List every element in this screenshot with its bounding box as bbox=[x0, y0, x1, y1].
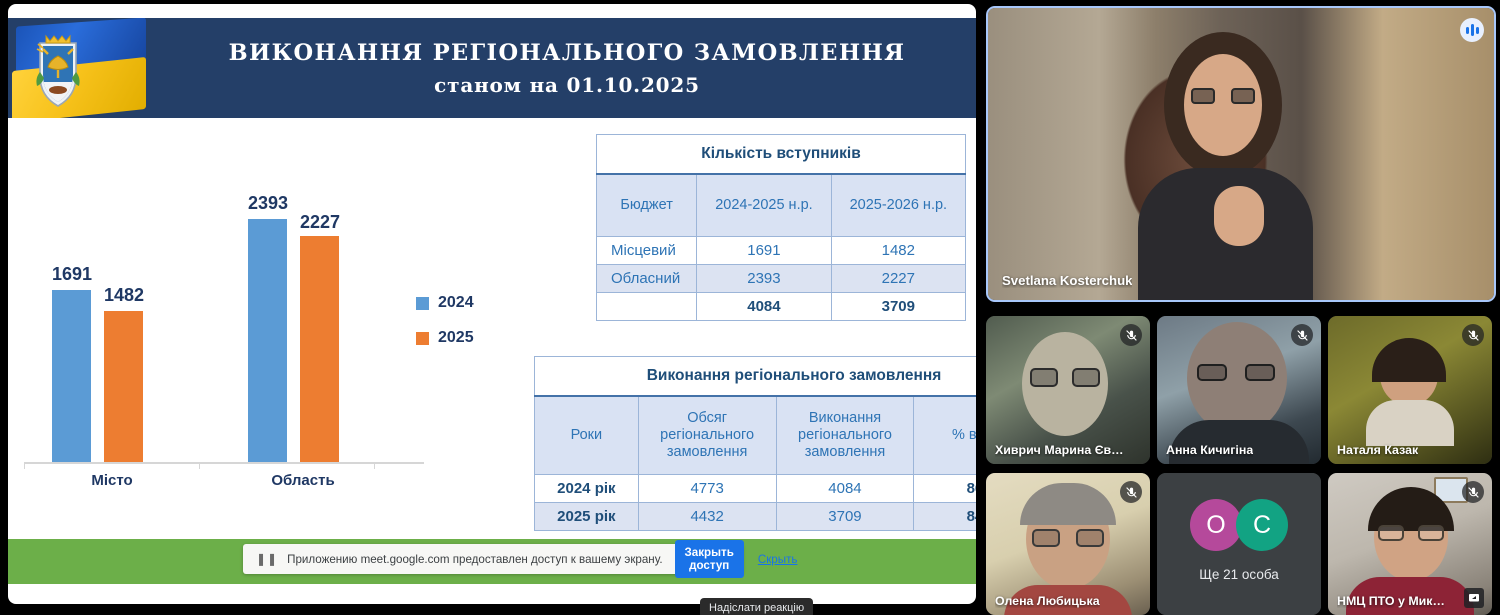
pause-icon[interactable]: ❚❚ bbox=[256, 552, 278, 566]
screen-share-notification: ❚❚ Приложению meet.google.com предоставл… bbox=[243, 544, 743, 574]
legend-item-2025: 2025 bbox=[416, 329, 474, 347]
cell-volume-2025: 4432 bbox=[638, 502, 776, 530]
glasses-left-icon bbox=[1197, 364, 1227, 381]
table-total-row: 4084 3709 bbox=[597, 292, 966, 320]
header-fulfilled: Виконання регіонального замовлення bbox=[776, 396, 914, 474]
slide-title-block: ВИКОНАННЯ РЕГІОНАЛЬНОГО ЗАМОВЛЕННЯ стано… bbox=[158, 18, 976, 118]
category-label-misto: Місто bbox=[67, 472, 157, 489]
table-caption-row: Виконання регіонального замовлення bbox=[535, 357, 977, 397]
cell-total-2024: 4084 bbox=[697, 292, 831, 320]
bar-label-2025-misto: 1482 bbox=[94, 285, 154, 306]
bar-2025-oblast bbox=[300, 236, 339, 462]
chart-legend: 2024 2025 bbox=[416, 294, 474, 364]
glasses-right-icon bbox=[1072, 368, 1100, 387]
hide-notification-link[interactable]: Скрыть bbox=[758, 553, 798, 566]
participant-name: Анна Кичигіна bbox=[1166, 443, 1253, 457]
header-percent: % викона bbox=[914, 396, 976, 474]
participant-name-text: Svetlana Kosterchuk bbox=[1002, 273, 1132, 288]
participant-tile[interactable]: Хиврич Марина Єв… bbox=[986, 316, 1150, 464]
chart-plot-area: 1691 1482 2393 2227 Місто Область bbox=[16, 134, 436, 464]
table-row: 2025 рік 4432 3709 84 % bbox=[535, 502, 977, 530]
glasses-right-icon bbox=[1231, 88, 1255, 104]
legend-swatch-2024 bbox=[416, 297, 429, 310]
send-reaction-tooltip: Надіслати реакцію bbox=[700, 598, 813, 615]
cell-oblast-label: Обласний bbox=[597, 264, 697, 292]
header-2024-2025: 2024-2025 н.р. bbox=[697, 174, 831, 236]
glasses-left-icon bbox=[1378, 525, 1404, 541]
cell-year-2024: 2024 рік bbox=[535, 474, 639, 502]
legend-label-2024: 2024 bbox=[438, 294, 474, 312]
emblem-with-flag bbox=[8, 18, 148, 118]
glasses-left-icon bbox=[1030, 368, 1058, 387]
participant-name: Олена Любицька bbox=[995, 594, 1100, 608]
mic-muted-icon bbox=[1462, 481, 1484, 503]
bar-2025-misto bbox=[104, 311, 143, 462]
cell-volume-2024: 4773 bbox=[638, 474, 776, 502]
torso-shape bbox=[1169, 420, 1309, 464]
axis-tick bbox=[199, 463, 200, 469]
bar-label-2024-misto: 1691 bbox=[42, 264, 102, 285]
table-caption: Виконання регіонального замовлення bbox=[535, 357, 977, 397]
axis-tick bbox=[24, 463, 25, 469]
legend-swatch-2025 bbox=[416, 332, 429, 345]
cell-total-2025: 3709 bbox=[831, 292, 965, 320]
cell-year-2025: 2025 рік bbox=[535, 502, 639, 530]
participant-tile[interactable]: Анна Кичигіна bbox=[1157, 316, 1321, 464]
hand-shape bbox=[1214, 186, 1264, 246]
bar-2024-oblast bbox=[248, 219, 287, 462]
participant-name: Наталя Казак bbox=[1337, 443, 1418, 457]
slide-subtitle: станом на 01.10.2025 bbox=[434, 73, 700, 97]
participants-pane: Svetlana Kosterchuk Хиврич Марина Єв… Ан… bbox=[982, 0, 1500, 615]
header-2025-2026: 2025-2026 н.р. bbox=[831, 174, 965, 236]
avatar: О bbox=[1190, 499, 1242, 551]
cell-fulfilled-2024: 4084 bbox=[776, 474, 914, 502]
header-years: Роки bbox=[535, 396, 639, 474]
glasses-left-icon bbox=[1191, 88, 1215, 104]
table-caption-row: Кількість вступників bbox=[597, 135, 966, 175]
glasses-right-icon bbox=[1076, 529, 1104, 547]
others-participants-tile[interactable]: О С Ще 21 особа bbox=[1157, 473, 1321, 615]
slide-title: ВИКОНАННЯ РЕГІОНАЛЬНОГО ЗАМОВЛЕННЯ bbox=[229, 40, 906, 66]
table-fulfilment: Виконання регіонального замовлення Роки … bbox=[534, 356, 976, 531]
cell-fulfilled-2025: 3709 bbox=[776, 502, 914, 530]
others-avatars: О С bbox=[1157, 499, 1321, 551]
mic-muted-icon bbox=[1120, 324, 1142, 346]
participant-tile[interactable]: Наталя Казак bbox=[1328, 316, 1492, 464]
axis-tick bbox=[374, 463, 375, 469]
shared-screen-pane[interactable]: ВИКОНАННЯ РЕГІОНАЛЬНОГО ЗАМОВЛЕННЯ стано… bbox=[0, 0, 978, 615]
participant-name: Хиврич Марина Єв… bbox=[995, 443, 1124, 457]
glasses-right-icon bbox=[1245, 364, 1275, 381]
header-budget: Бюджет bbox=[597, 174, 697, 236]
audio-level-icon bbox=[1460, 18, 1484, 42]
cell-local-label: Місцевий bbox=[597, 236, 697, 264]
slide-header: ВИКОНАННЯ РЕГІОНАЛЬНОГО ЗАМОВЛЕННЯ стано… bbox=[8, 18, 976, 118]
cell-oblast-2024: 2393 bbox=[697, 264, 831, 292]
torso-shape bbox=[1366, 400, 1454, 446]
header-volume: Обсяг регіонального замовлення bbox=[638, 396, 776, 474]
bar-label-2024-oblast: 2393 bbox=[238, 193, 298, 214]
meet-screen: ВИКОНАННЯ РЕГІОНАЛЬНОГО ЗАМОВЛЕННЯ стано… bbox=[0, 0, 1500, 615]
cell-percent-2024: 86 % bbox=[914, 474, 976, 502]
glasses-left-icon bbox=[1032, 529, 1060, 547]
mic-muted-icon bbox=[1120, 481, 1142, 503]
present-screen-icon bbox=[1464, 588, 1484, 608]
bar-chart: 1691 1482 2393 2227 Місто Область 2024 bbox=[16, 134, 526, 514]
table-row: Обласний 2393 2227 bbox=[597, 264, 966, 292]
mic-muted-icon bbox=[1462, 324, 1484, 346]
notification-text: Приложению meet.google.com предоставлен … bbox=[287, 553, 662, 566]
table-header-row: Роки Обсяг регіонального замовлення Вико… bbox=[535, 396, 977, 474]
glasses-right-icon bbox=[1418, 525, 1444, 541]
table-row: 2024 рік 4773 4084 86 % bbox=[535, 474, 977, 502]
cell-local-2024: 1691 bbox=[697, 236, 831, 264]
bar-2024-misto bbox=[52, 290, 91, 462]
participant-name: НМЦ ПТО у Мик… bbox=[1337, 594, 1445, 608]
participant-name-main: Svetlana Kosterchuk bbox=[1002, 273, 1132, 288]
participant-tile[interactable]: Олена Любицька bbox=[986, 473, 1150, 615]
table-row: Місцевий 1691 1482 bbox=[597, 236, 966, 264]
legend-item-2024: 2024 bbox=[416, 294, 474, 312]
avatar: С bbox=[1236, 499, 1288, 551]
table-enrollees: Кількість вступників Бюджет 2024-2025 н.… bbox=[596, 134, 966, 321]
legend-label-2025: 2025 bbox=[438, 329, 474, 347]
cell-oblast-2025: 2227 bbox=[831, 264, 965, 292]
category-label-oblast: Область bbox=[248, 472, 358, 489]
chart-x-axis bbox=[24, 462, 424, 464]
cell-local-2025: 1482 bbox=[831, 236, 965, 264]
cell-total-label bbox=[597, 292, 697, 320]
stop-sharing-button[interactable]: Закрыть доступ bbox=[675, 540, 744, 578]
mic-muted-icon bbox=[1291, 324, 1313, 346]
others-count-label: Ще 21 особа bbox=[1157, 567, 1321, 582]
presentation-slide: ВИКОНАННЯ РЕГІОНАЛЬНОГО ЗАМОВЛЕННЯ стано… bbox=[8, 4, 976, 604]
cell-percent-2025: 84 % bbox=[914, 502, 976, 530]
table-caption: Кількість вступників bbox=[597, 135, 966, 175]
participant-tile[interactable]: НМЦ ПТО у Мик… bbox=[1328, 473, 1492, 615]
bar-label-2025-oblast: 2227 bbox=[290, 212, 350, 233]
coat-of-arms-icon bbox=[30, 26, 86, 110]
table-header-row: Бюджет 2024-2025 н.р. 2025-2026 н.р. bbox=[597, 174, 966, 236]
face-shape bbox=[1184, 54, 1262, 156]
participant-tile-main[interactable]: Svetlana Kosterchuk bbox=[986, 6, 1496, 302]
